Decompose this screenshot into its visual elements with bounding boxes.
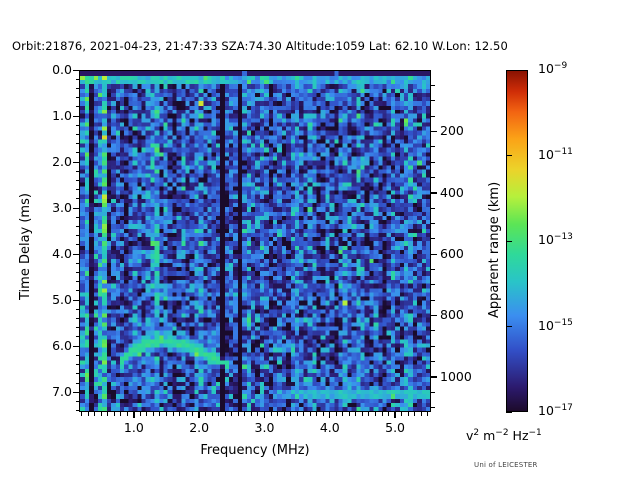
axis-tick-label: 3.0 (244, 420, 284, 435)
x-tick-minor (303, 412, 304, 416)
x-tick-major (394, 412, 395, 418)
x-tick-minor (421, 412, 422, 416)
colorbar-tick-label: 10−13 (538, 232, 573, 247)
x-tick-minor (186, 412, 187, 416)
axis-tick-label: 4.0 (310, 420, 350, 435)
colorbar-tick (506, 412, 512, 413)
x-tick-minor (290, 412, 291, 416)
x-tick-minor (277, 412, 278, 416)
x-tick-minor (140, 412, 141, 416)
x-tick-minor (408, 412, 409, 416)
ionogram-figure: Orbit:21876, 2021-04-23, 21:47:33 SZA:74… (0, 0, 640, 480)
x-tick-minor (349, 412, 350, 416)
x-tick-minor (127, 412, 128, 416)
x-tick-minor (120, 412, 121, 416)
colorbar-tick-label: 10−11 (538, 147, 573, 162)
x-tick-minor (192, 412, 193, 416)
axis-tick-label: 2.0 (179, 420, 219, 435)
x-tick-minor (323, 412, 324, 416)
x-tick-minor (310, 412, 311, 416)
x-tick-major (133, 412, 134, 418)
x-tick-minor (414, 412, 415, 416)
x-tick-minor (88, 412, 89, 416)
colorbar-ticks: 10−1710−1510−1310−1110−9 (506, 0, 636, 480)
x-tick-minor (212, 412, 213, 416)
axis-tick-label: 1.0 (114, 420, 154, 435)
x-tick-minor (114, 412, 115, 416)
x-tick-minor (205, 412, 206, 416)
x-tick-minor (225, 412, 226, 416)
x-tick-major (264, 412, 265, 418)
x-tick-minor (166, 412, 167, 416)
x-tick-minor (81, 412, 82, 416)
colorbar-tick (506, 241, 512, 242)
x-tick-minor (336, 412, 337, 416)
x-tick-major (198, 412, 199, 418)
x-tick-minor (153, 412, 154, 416)
x-tick-minor (107, 412, 108, 416)
colorbar-tick (506, 155, 512, 156)
x-tick-minor (251, 412, 252, 416)
colorbar-tick-label: 10−17 (538, 403, 573, 418)
x-tick-minor (382, 412, 383, 416)
x-tick-minor (297, 412, 298, 416)
institution-credit: Uni of LEICESTER (474, 461, 538, 469)
x-tick-minor (159, 412, 160, 416)
x-tick-minor (284, 412, 285, 416)
x-tick-minor (368, 412, 369, 416)
x-tick-minor (342, 412, 343, 416)
x-tick-minor (257, 412, 258, 416)
x-tick-minor (238, 412, 239, 416)
colorbar-tick-label: 10−9 (538, 61, 567, 76)
x-tick-major (329, 412, 330, 418)
x-tick-minor (427, 412, 428, 416)
x-tick-minor (146, 412, 147, 416)
x-tick-minor (388, 412, 389, 416)
colorbar-tick (506, 70, 512, 71)
x-tick-minor (316, 412, 317, 416)
axis-tick-label: 5.0 (375, 420, 415, 435)
x-tick-minor (173, 412, 174, 416)
x-tick-minor (244, 412, 245, 416)
x-tick-minor (362, 412, 363, 416)
x-tick-minor (94, 412, 95, 416)
x-tick-minor (231, 412, 232, 416)
colorbar-tick-label: 10−15 (538, 318, 573, 333)
x-tick-minor (375, 412, 376, 416)
x-tick-minor (355, 412, 356, 416)
colorbar-unit-label: v2 m−2 Hz−1 (466, 428, 542, 443)
x-tick-minor (179, 412, 180, 416)
x-tick-minor (401, 412, 402, 416)
x-tick-minor (218, 412, 219, 416)
x-tick-minor (271, 412, 272, 416)
x-tick-minor (101, 412, 102, 416)
colorbar-tick (506, 326, 512, 327)
